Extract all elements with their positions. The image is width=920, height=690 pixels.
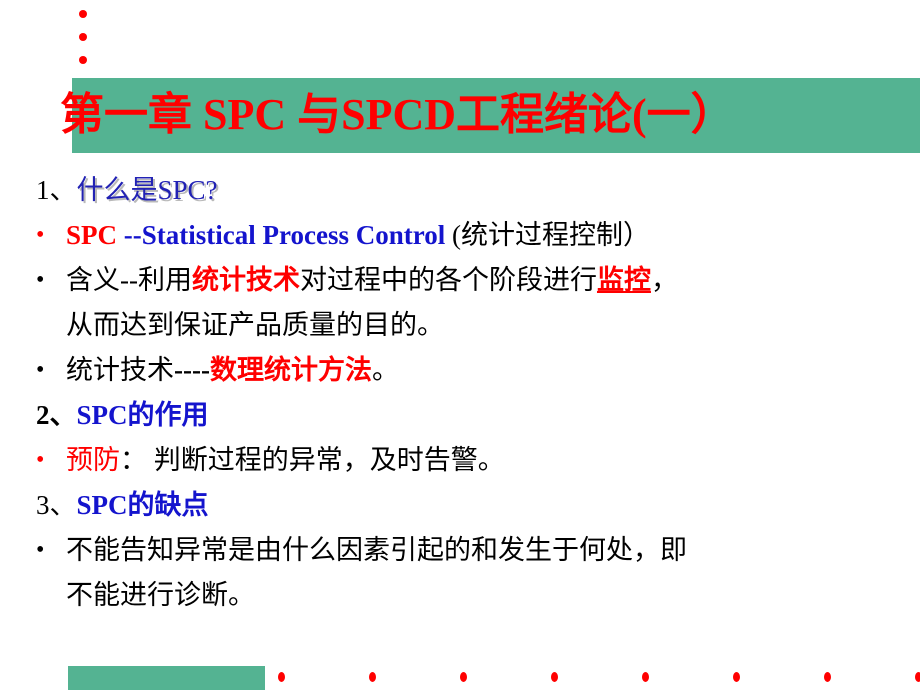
decor-dot-icon [79,10,87,18]
footer-bar [68,666,265,690]
line2-expansion: --Statistical Process Control [124,220,452,250]
body-line-7: 3、SPC的缺点 [28,483,920,528]
body-line-5: 2、SPC的作用 [28,393,920,438]
line6-rest: ： 判断过程的异常，及时告警。 [120,445,505,475]
footer-dot-icon [369,672,376,682]
decor-dot-icon [79,56,87,64]
body-line-3-continuation: 从而达到保证产品质量的目的。 [28,303,920,348]
line7-number: 3、 [36,490,77,520]
line4-part1: 统计技术 [66,355,174,385]
footer-dot-icon [551,672,558,682]
line4-part2: 。 [372,355,399,385]
footer-dot-row [278,672,920,684]
slide-canvas: 第一章 SPC 与SPCD工程绪论(一） 1、什么是SPC? SPC --Sta… [0,0,920,690]
body-line-4: 统计技术----数理统计方法。 [28,348,920,393]
body-line-2: SPC --Statistical Process Control (统计过程控… [28,213,920,258]
slide-body: 1、什么是SPC? SPC --Statistical Process Cont… [28,168,920,618]
line5-heading: SPC的作用 [77,400,209,430]
body-line-8-continuation: 不能进行诊断。 [28,573,920,618]
line6-highlight: 预防 [66,445,120,475]
footer-dot-icon [915,672,920,682]
line4-dashes: ---- [174,355,210,385]
line3-part3: ， [651,265,678,295]
footer-dot-icon [824,672,831,682]
line1-heading: 什么是SPC? [77,175,218,205]
line2-translation: (统计过程控制） [452,220,650,250]
line3-part2: 对过程中的各个阶段进行 [300,265,597,295]
line3-part1: 含义--利用 [66,265,192,295]
footer-dot-icon [733,672,740,682]
line3-highlight-1: 统计技术 [192,265,300,295]
body-line-8: 不能告知异常是由什么因素引起的和发生于何处，即 [28,528,920,573]
line3-highlight-2: 监控 [597,265,651,295]
footer-dot-icon [642,672,649,682]
line5-number: 2、 [36,400,77,430]
footer-dot-icon [278,672,285,682]
line4-highlight: 数理统计方法 [210,355,372,385]
footer-dot-icon [460,672,467,682]
body-line-6: 预防： 判断过程的异常，及时告警。 [28,438,920,483]
line7-heading: SPC的缺点 [77,490,209,520]
body-line-3: 含义--利用统计技术对过程中的各个阶段进行监控， [28,258,920,303]
line1-number: 1、 [36,175,77,205]
body-line-1: 1、什么是SPC? [28,168,920,213]
decor-dot-icon [79,33,87,41]
line8-part1: 不能告知异常是由什么因素引起的和发生于何处，即 [66,535,687,565]
line2-term: SPC [66,220,124,250]
slide-title: 第一章 SPC 与SPCD工程绪论(一） [60,88,920,142]
